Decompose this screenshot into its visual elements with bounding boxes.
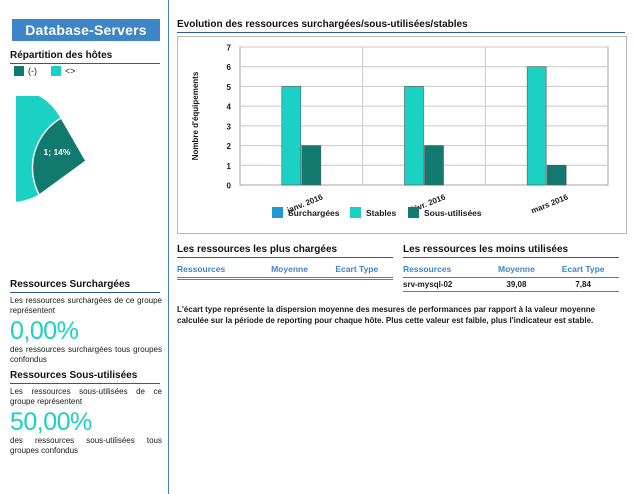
most-loaded-table-block: Les ressources les plus chargées Ressour… bbox=[177, 244, 403, 292]
x-tick-2: mars 2016 bbox=[530, 192, 570, 215]
col-moyenne: Moyenne bbox=[486, 264, 548, 278]
cell-moyenne: 39,08 bbox=[486, 278, 548, 292]
overloaded-intro: Les ressources surchargées de ce groupe … bbox=[10, 296, 162, 316]
chart-legend: SurchargéesStablesSous-utilisées bbox=[272, 207, 482, 218]
pie-legend-label-0: (-) bbox=[28, 66, 37, 76]
overloaded-footer: des ressources surchargées tous groupes … bbox=[10, 345, 162, 365]
col-moyenne: Moyenne bbox=[258, 264, 320, 278]
overloaded-percent: 0,00% bbox=[10, 317, 78, 345]
y-tick-6: 6 bbox=[227, 63, 232, 72]
col-ressources: Ressources bbox=[177, 264, 258, 278]
y-tick-7: 7 bbox=[227, 44, 232, 53]
left-summary-panel: Database-Servers Répartition des hôtes (… bbox=[0, 0, 168, 494]
table-row-empty bbox=[177, 278, 393, 280]
bar-sousutilises-2[interactable] bbox=[547, 165, 566, 185]
least-used-table-body: srv-mysql-0239,087,84 bbox=[403, 278, 619, 292]
pie-legend: (-) <> bbox=[14, 66, 86, 76]
table-header-row: Ressources Moyenne Ecart Type bbox=[177, 264, 393, 278]
y-tick-0: 0 bbox=[227, 182, 232, 191]
most-loaded-table: Ressources Moyenne Ecart Type bbox=[177, 264, 393, 280]
ecart-type-footnote: L'écart type représente la dispersion mo… bbox=[177, 305, 625, 326]
y-tick-3: 3 bbox=[227, 122, 232, 131]
bar-stables-0[interactable] bbox=[282, 86, 301, 185]
legend-label-0: Surchargées bbox=[288, 208, 340, 218]
y-axis-title: Nombre d'équipements bbox=[191, 71, 200, 160]
table-header-row: Ressources Moyenne Ecart Type bbox=[403, 264, 619, 278]
group-title: Database-Servers bbox=[25, 22, 147, 38]
bar-stables-1[interactable] bbox=[405, 86, 424, 185]
cell-resource: srv-mysql-02 bbox=[403, 278, 486, 292]
pie-legend-swatch-0 bbox=[14, 66, 24, 76]
bar-sousutilises-1[interactable] bbox=[425, 146, 444, 185]
evolution-bar-chart: 01234567Nombre d'équipementsjanv. 2016fé… bbox=[177, 36, 627, 234]
pie-legend-swatch-1 bbox=[51, 66, 61, 76]
underused-percent: 50,00% bbox=[10, 408, 92, 436]
least-used-table: Ressources Moyenne Ecart Type srv-mysql-… bbox=[403, 264, 619, 292]
cell-ecart-type: 7,84 bbox=[547, 278, 619, 292]
most-loaded-table-body bbox=[177, 278, 393, 280]
legend-swatch-1 bbox=[350, 207, 361, 218]
hosts-pie-chart: 1; 14% 6; 86% bbox=[16, 96, 156, 226]
y-tick-2: 2 bbox=[227, 142, 232, 151]
least-used-table-block: Les ressources les moins utilisées Resso… bbox=[403, 244, 629, 292]
group-title-bar: Database-Servers bbox=[12, 19, 160, 41]
col-ecart-type: Ecart Type bbox=[547, 264, 619, 278]
underused-intro: Les ressources sous-utilisées de ce grou… bbox=[10, 387, 162, 407]
pie-legend-label-1: <> bbox=[65, 66, 76, 76]
pie-data-label-0: 1; 14% bbox=[44, 147, 71, 157]
col-ressources: Ressources bbox=[403, 264, 486, 278]
col-ecart-type: Ecart Type bbox=[321, 264, 393, 278]
legend-label-1: Stables bbox=[366, 208, 397, 218]
overloaded-heading: Ressources Surchargées bbox=[10, 279, 160, 293]
most-loaded-title: Les ressources les plus chargées bbox=[177, 244, 393, 258]
underused-footer: des ressources sous-utilisées tous group… bbox=[10, 436, 162, 456]
evolution-chart-heading: Evolution des ressources surchargées/sou… bbox=[177, 19, 625, 33]
underused-heading: Ressources Sous-utilisées bbox=[10, 370, 160, 384]
y-tick-1: 1 bbox=[227, 162, 232, 171]
resource-tables: Les ressources les plus chargées Ressour… bbox=[177, 244, 629, 292]
pie-data-label-1: 6; 86% bbox=[106, 196, 133, 206]
legend-label-2: Sous-utilisées bbox=[424, 208, 482, 218]
bar-sousutilises-0[interactable] bbox=[302, 146, 321, 185]
legend-swatch-2 bbox=[408, 207, 419, 218]
bar-stables-2[interactable] bbox=[527, 67, 546, 185]
y-tick-4: 4 bbox=[227, 103, 232, 112]
least-used-title: Les ressources les moins utilisées bbox=[403, 244, 619, 258]
table-row[interactable]: srv-mysql-0239,087,84 bbox=[403, 278, 619, 292]
legend-swatch-0 bbox=[272, 207, 283, 218]
hosts-distribution-heading: Répartition des hôtes bbox=[10, 50, 160, 64]
y-tick-5: 5 bbox=[227, 83, 232, 92]
right-content-panel: Evolution des ressources surchargées/sou… bbox=[169, 0, 635, 494]
